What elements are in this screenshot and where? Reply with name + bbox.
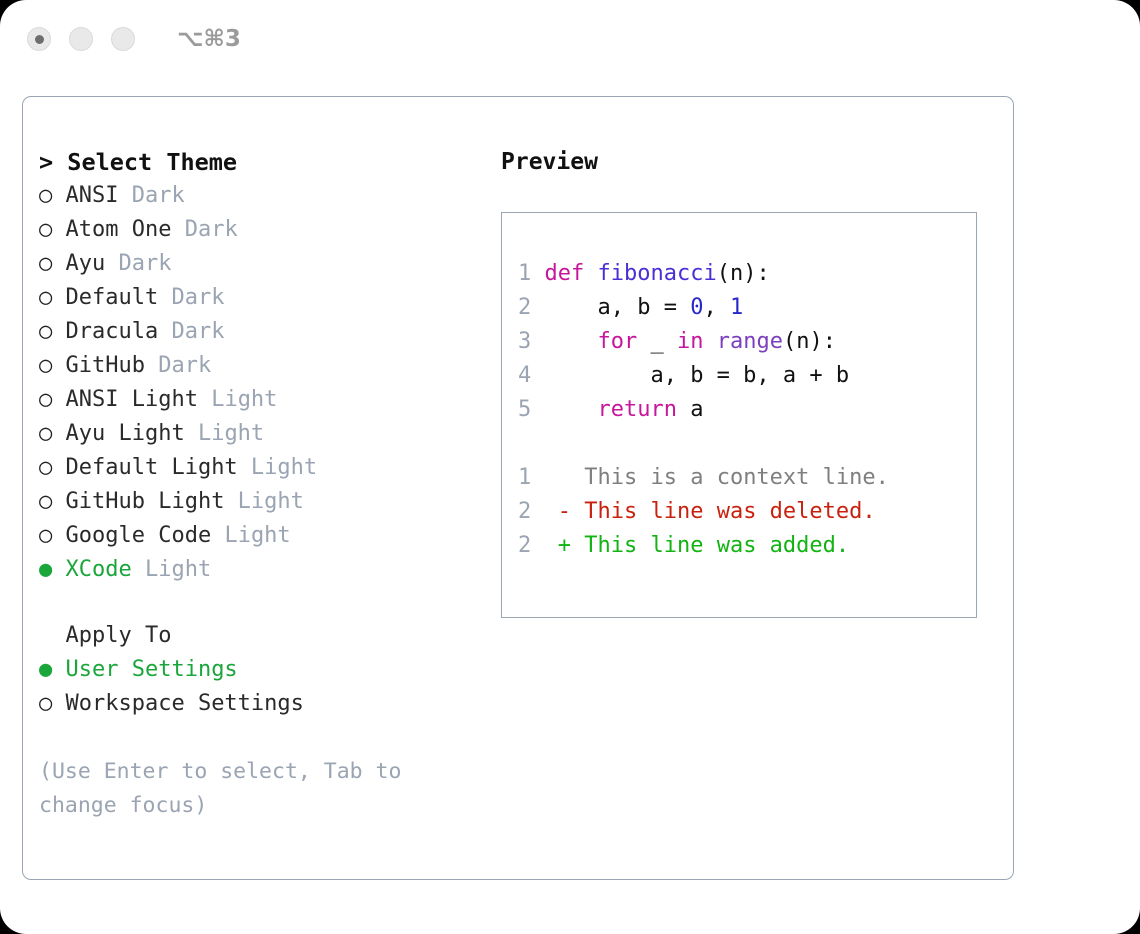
code-token-fn: fibonacci: [597, 261, 716, 286]
radio-unselected-icon: ○: [39, 251, 52, 276]
code-line: 4 a, b = b, a + b: [518, 359, 976, 393]
theme-option-dracula[interactable]: ○ Dracula Dark: [39, 315, 499, 349]
theme-option-tag: Light: [211, 523, 290, 548]
code-token-kw: for: [597, 329, 637, 354]
radio-unselected-icon: ○: [39, 421, 52, 446]
diff-sign: [558, 465, 571, 490]
main-window-panel: > Select Theme ○ ANSI Dark○ Atom One Dar…: [22, 96, 1014, 880]
code-token-plain: [545, 329, 598, 354]
radio-unselected-icon: ○: [39, 523, 52, 548]
theme-option-ansi[interactable]: ○ ANSI Dark: [39, 179, 499, 213]
apply-to-option-label: Workspace Settings: [52, 691, 304, 716]
apply-to-header-label: Apply To: [66, 623, 172, 648]
theme-option-label: Google Code: [52, 523, 211, 548]
diff-text: This is a context line.: [584, 465, 889, 490]
theme-option-list: ○ ANSI Dark○ Atom One Dark○ Ayu Dark○ De…: [39, 179, 499, 587]
code-line: 2 a, b = 0, 1: [518, 291, 976, 325]
apply-to-option-user-settings[interactable]: ● User Settings: [39, 653, 499, 687]
app-window: ⌥⌘3 > Select Theme ○ ANSI Dark○ Atom One…: [0, 0, 1140, 934]
code-token-plain: [545, 397, 598, 422]
theme-option-xcode[interactable]: ● XCode Light: [39, 553, 499, 587]
code-token-kw: return: [597, 397, 676, 422]
code-token-plain: a, b =: [545, 295, 691, 320]
theme-option-label: Dracula: [52, 319, 158, 344]
apply-to-option-label: User Settings: [52, 657, 237, 682]
theme-option-label: Default: [52, 285, 158, 310]
code-token-plain: (n):: [783, 329, 836, 354]
window-controls: [27, 27, 135, 51]
apply-to-header: Apply To: [39, 619, 499, 653]
code-token-num: 1: [730, 295, 743, 320]
theme-option-tag: Dark: [158, 319, 224, 344]
preview-code-box: 1 def fibonacci(n):2 a, b = 0, 13 for _ …: [501, 212, 977, 618]
code-token-plain: (n):: [717, 261, 770, 286]
theme-option-google-code[interactable]: ○ Google Code Light: [39, 519, 499, 553]
code-line-number: 5: [518, 397, 531, 422]
code-token-plain: ,: [703, 295, 730, 320]
diff-sign: -: [558, 499, 571, 524]
theme-option-ayu[interactable]: ○ Ayu Dark: [39, 247, 499, 281]
window-control-active-dot[interactable]: [27, 27, 51, 51]
code-sample-block: 1 def fibonacci(n):2 a, b = 0, 13 for _ …: [518, 257, 976, 427]
diff-line-number: 2: [518, 533, 531, 558]
theme-option-label: GitHub: [52, 353, 145, 378]
theme-option-tag: Light: [185, 421, 264, 446]
hint-spacer: [39, 721, 499, 755]
theme-option-label: Default Light: [52, 455, 237, 480]
theme-selector-panel: > Select Theme ○ ANSI Dark○ Atom One Dar…: [39, 145, 499, 823]
diff-text: This line was added.: [584, 533, 849, 558]
diff-line-add: 2 + This line was added.: [518, 529, 976, 563]
diff-text: This line was deleted.: [584, 499, 875, 524]
code-token-kw: def: [545, 261, 598, 286]
theme-option-label: ANSI Light: [52, 387, 198, 412]
theme-option-default[interactable]: ○ Default Dark: [39, 281, 499, 315]
radio-unselected-icon: ○: [39, 489, 52, 514]
diff-line-del: 2 - This line was deleted.: [518, 495, 976, 529]
theme-option-tag: Dark: [145, 353, 211, 378]
theme-option-tag: Light: [238, 455, 317, 480]
radio-unselected-icon: ○: [39, 455, 52, 480]
keyboard-shortcut-label: ⌥⌘3: [177, 26, 241, 52]
title-bar: ⌥⌘3: [0, 0, 1140, 78]
apply-to-option-workspace-settings[interactable]: ○ Workspace Settings: [39, 687, 499, 721]
theme-option-default-light[interactable]: ○ Default Light Light: [39, 451, 499, 485]
theme-option-ansi-light[interactable]: ○ ANSI Light Light: [39, 383, 499, 417]
diff-line-number: 1: [518, 465, 531, 490]
radio-unselected-icon: ○: [39, 183, 52, 208]
code-token-call: range: [717, 329, 783, 354]
theme-option-label: Ayu Light: [52, 421, 184, 446]
window-control-dot-3[interactable]: [111, 27, 135, 51]
theme-option-tag: Dark: [105, 251, 171, 276]
radio-unselected-icon: ○: [39, 319, 52, 344]
preview-title: Preview: [501, 145, 1001, 179]
diff-sign: +: [558, 533, 571, 558]
code-line-number: 4: [518, 363, 531, 388]
code-token-plain: a: [677, 397, 704, 422]
code-token-plain: a, b = b, a + b: [545, 363, 850, 388]
theme-option-github[interactable]: ○ GitHub Dark: [39, 349, 499, 383]
radio-unselected-icon: ○: [39, 691, 52, 716]
select-theme-header: > Select Theme: [39, 145, 499, 179]
code-line-number: 2: [518, 295, 531, 320]
diff-line-ctx: 1 This is a context line.: [518, 461, 976, 495]
radio-unselected-icon: ○: [39, 353, 52, 378]
window-control-dot-2[interactable]: [69, 27, 93, 51]
code-token-num: 0: [690, 295, 703, 320]
theme-option-tag: Dark: [118, 183, 184, 208]
list-spacer: [39, 587, 499, 619]
theme-option-tag: Light: [224, 489, 303, 514]
theme-option-github-light[interactable]: ○ GitHub Light Light: [39, 485, 499, 519]
radio-unselected-icon: ○: [39, 387, 52, 412]
theme-option-label: XCode: [52, 557, 131, 582]
code-line: 3 for _ in range(n):: [518, 325, 976, 359]
theme-option-tag: Light: [132, 557, 211, 582]
code-token-kw: in: [677, 329, 704, 354]
theme-option-atom-one[interactable]: ○ Atom One Dark: [39, 213, 499, 247]
code-token-plain: [703, 329, 716, 354]
code-token-plain: _: [637, 329, 677, 354]
theme-option-tag: Dark: [171, 217, 237, 242]
radio-selected-icon: ●: [39, 557, 52, 582]
radio-unselected-icon: ○: [39, 285, 52, 310]
theme-option-tag: Dark: [158, 285, 224, 310]
radio-unselected-icon: ○: [39, 217, 52, 242]
radio-selected-icon: ●: [39, 657, 52, 682]
theme-option-label: ANSI: [52, 183, 118, 208]
theme-option-tag: Light: [198, 387, 277, 412]
keyboard-hint-text: (Use Enter to select, Tab to change focu…: [39, 755, 459, 823]
code-line: 5 return a: [518, 393, 976, 427]
code-diff-separator: [518, 427, 976, 461]
theme-option-label: GitHub Light: [52, 489, 224, 514]
diff-sample-block: 1 This is a context line.2 - This line w…: [518, 461, 976, 563]
active-dot-inner-icon: [35, 35, 44, 44]
diff-line-number: 2: [518, 499, 531, 524]
code-line-number: 3: [518, 329, 531, 354]
theme-option-label: Atom One: [52, 217, 171, 242]
preview-panel: Preview 1 def fibonacci(n):2 a, b = 0, 1…: [501, 145, 1001, 618]
apply-to-option-list: ● User Settings○ Workspace Settings: [39, 653, 499, 721]
theme-option-label: Ayu: [52, 251, 105, 276]
theme-option-ayu-light[interactable]: ○ Ayu Light Light: [39, 417, 499, 451]
code-line-number: 1: [518, 261, 531, 286]
code-line: 1 def fibonacci(n):: [518, 257, 976, 291]
